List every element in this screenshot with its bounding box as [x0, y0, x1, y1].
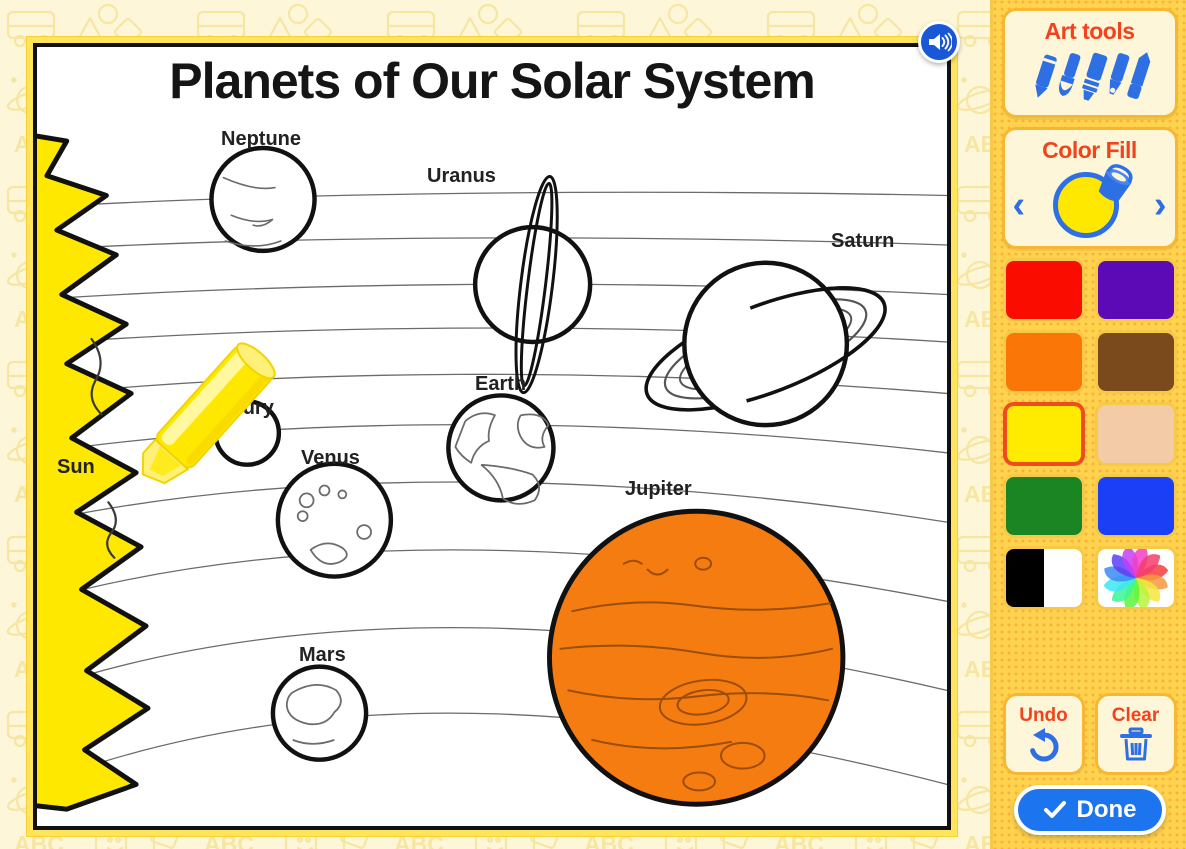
undo-arrow-icon	[1025, 727, 1063, 763]
color-swatch-purple[interactable]	[1095, 258, 1177, 322]
jupiter-shape[interactable]	[549, 511, 842, 804]
venus-shape[interactable]	[278, 464, 391, 577]
planet-label-uranus: Uranus	[427, 165, 496, 188]
planet-label-venus: Venus	[301, 447, 360, 470]
speaker-icon	[926, 31, 952, 53]
color-swatch-grid	[1002, 258, 1178, 610]
color-swatch-brown[interactable]	[1095, 330, 1177, 394]
planet-label-mercury: Mercury	[196, 397, 274, 420]
undo-button[interactable]: Undo	[1003, 693, 1085, 775]
paint-bucket-icon	[1093, 164, 1137, 204]
color-swatch-black-white[interactable]	[1003, 546, 1085, 610]
planet-label-sun: Sun	[57, 456, 95, 479]
color-swatch-blue[interactable]	[1095, 474, 1177, 538]
color-fill-title: Color Fill	[1005, 137, 1175, 164]
planet-label-earth: Earth	[475, 373, 526, 396]
planet-label-jupiter: Jupiter	[625, 478, 692, 501]
swatch-half-white	[1044, 549, 1082, 607]
art-tools-title: Art tools	[1005, 18, 1175, 45]
coloring-canvas[interactable]	[33, 43, 951, 830]
check-icon	[1043, 800, 1067, 820]
art-tools-icon	[1005, 51, 1175, 103]
page-title: Planets of Our Solar System	[37, 52, 947, 110]
color-swatch-green[interactable]	[1003, 474, 1085, 538]
planet-label-mars: Mars	[299, 644, 346, 667]
undo-label: Undo	[1019, 706, 1068, 725]
done-label: Done	[1077, 796, 1137, 824]
planet-label-neptune: Neptune	[221, 128, 301, 151]
color-swatch-yellow[interactable]	[1003, 402, 1085, 466]
planet-label-saturn: Saturn	[831, 230, 894, 253]
tools-sidebar: Art tools	[990, 0, 1186, 849]
trash-icon	[1118, 727, 1154, 763]
color-swatch-orange[interactable]	[1003, 330, 1085, 394]
done-button[interactable]: Done	[1014, 785, 1166, 835]
mars-shape[interactable]	[273, 667, 366, 760]
action-buttons-row: Undo Clear	[1003, 693, 1177, 775]
swatch-half-black	[1006, 549, 1044, 607]
color-swatch-red[interactable]	[1003, 258, 1085, 322]
art-tools-panel[interactable]: Art tools	[1002, 8, 1178, 118]
solar-system-drawing[interactable]	[37, 47, 947, 826]
color-swatch-rainbow[interactable]	[1095, 546, 1177, 610]
neptune-shape[interactable]	[211, 148, 314, 251]
color-swatch-peach[interactable]	[1095, 402, 1177, 466]
color-fill-panel[interactable]: Color Fill ‹ ›	[1002, 127, 1178, 249]
speaker-button[interactable]	[918, 21, 960, 63]
rainbow-wheel-icon	[1098, 549, 1174, 607]
current-color-display[interactable]	[1049, 168, 1131, 242]
next-color-button[interactable]: ›	[1154, 186, 1167, 224]
clear-button[interactable]: Clear	[1095, 693, 1177, 775]
prev-color-button[interactable]: ‹	[1013, 186, 1026, 224]
coloring-stage: Planets of Our Solar System Neptune Uran…	[0, 0, 990, 849]
clear-label: Clear	[1112, 706, 1160, 725]
